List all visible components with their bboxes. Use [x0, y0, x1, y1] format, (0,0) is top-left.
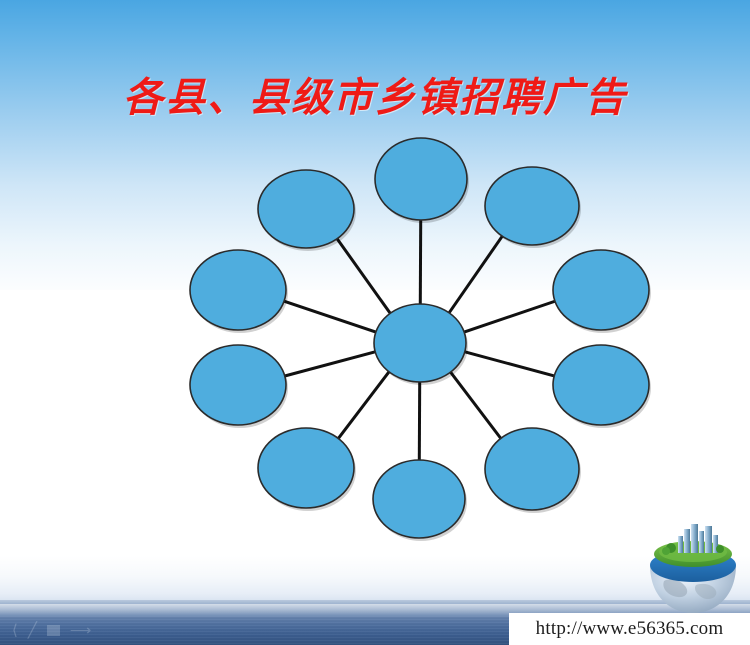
spoke-line-node-right-upper [464, 301, 555, 332]
node-ellipse[interactable] [190, 345, 286, 425]
node-ellipse[interactable] [375, 138, 467, 220]
spoke-line-node-top-left [337, 239, 390, 314]
node-ellipse[interactable] [485, 167, 579, 245]
spoke-line-node-bottom-left [338, 372, 389, 439]
diagram-node-left-upper[interactable] [190, 250, 288, 333]
node-ellipse[interactable] [374, 304, 466, 382]
diagram-node-top[interactable] [375, 138, 469, 223]
globe-city-icon [644, 523, 742, 615]
spoke-line-node-left-upper [284, 301, 376, 332]
node-ellipse[interactable] [258, 170, 354, 248]
diagram-node-bottom[interactable] [373, 460, 467, 541]
node-ellipse[interactable] [553, 345, 649, 425]
watermark-url-text: http://www.e56365.com [536, 618, 724, 640]
watermark-url-badge: http://www.e56365.com [509, 613, 750, 645]
spoke-line-node-top-right [449, 236, 502, 313]
diagram-node-bottom-right[interactable] [485, 428, 581, 513]
spoke-line-node-right-lower [465, 352, 554, 376]
spoke-line-node-bottom-right [451, 372, 501, 438]
diagram-node-top-left[interactable] [258, 170, 356, 251]
node-ellipse[interactable] [373, 460, 465, 538]
slide-canvas: ⟨ ╱ ⟶ 各县、县级市乡镇招聘广告 [0, 0, 750, 645]
diagram-node-right-upper[interactable] [553, 250, 651, 333]
radial-diagram [0, 0, 750, 645]
node-ellipse[interactable] [258, 428, 354, 508]
node-ellipse[interactable] [485, 428, 579, 510]
spoke-line-node-left-lower [285, 352, 375, 376]
diagram-node-top-right[interactable] [485, 167, 581, 248]
diagram-node-right-lower[interactable] [553, 345, 651, 428]
diagram-node-left-lower[interactable] [190, 345, 288, 428]
diagram-node-bottom-left[interactable] [258, 428, 356, 511]
node-ellipse[interactable] [190, 250, 286, 330]
node-ellipse[interactable] [553, 250, 649, 330]
